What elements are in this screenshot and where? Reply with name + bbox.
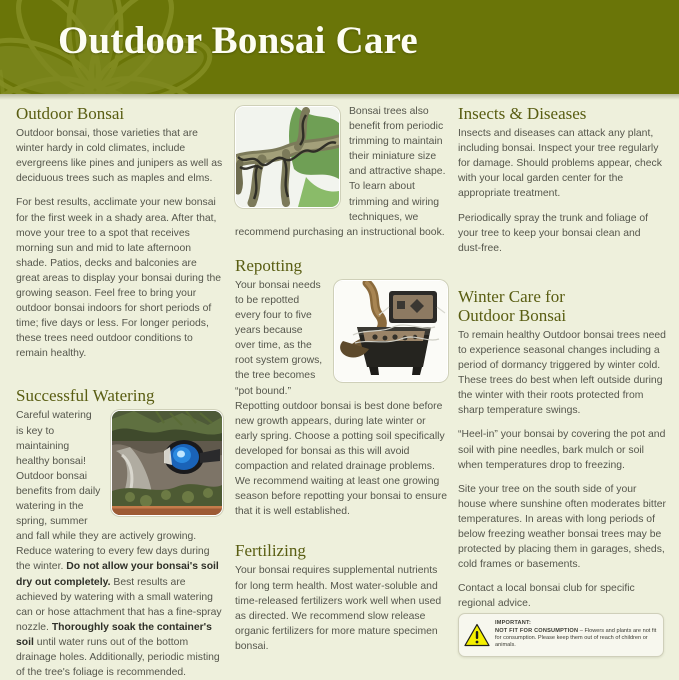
insects-paragraph-2: Periodically spray the trunk and foliage… [458, 211, 666, 256]
watering-photo-art [112, 411, 222, 515]
poster-page: Outdoor Bonsai Care Outdoor Bonsai Outdo… [0, 0, 679, 679]
column-middle: Bonsai trees also benefit from periodic … [235, 104, 448, 654]
column-right: Insects & Diseases Insects and diseases … [458, 104, 666, 611]
repotting-block: Your bonsai needs to be repotted every f… [235, 278, 448, 520]
watering-photo [111, 410, 223, 516]
wired-branch-photo [235, 106, 340, 208]
page-title: Outdoor Bonsai Care [58, 18, 418, 63]
warning-triangle-icon [464, 623, 490, 647]
spacer [235, 519, 448, 541]
winter-paragraph-3: Site your tree on the south side of your… [458, 482, 666, 573]
content-columns: Outdoor Bonsai Outdoor bonsai, those var… [0, 94, 679, 679]
trimming-block: Bonsai trees also benefit from periodic … [235, 104, 448, 240]
heading-insects-diseases: Insects & Diseases [458, 104, 666, 123]
winter-care-heading-line-2: Outdoor Bonsai [458, 306, 566, 325]
warning-line-2: NOT FIT FOR CONSUMPTION [495, 628, 578, 634]
heading-winter-care: Winter Care for Outdoor Bonsai [458, 287, 666, 325]
heading-outdoor-bonsai: Outdoor Bonsai [16, 104, 223, 123]
repotting-photo-art [335, 281, 447, 381]
heading-successful-watering: Successful Watering [16, 386, 223, 405]
column-left: Outdoor Bonsai Outdoor bonsai, those var… [16, 104, 223, 680]
important-warning-box: IMPORTANT: NOT FIT FOR CONSUMPTION – Flo… [458, 613, 664, 657]
page-header: Outdoor Bonsai Care [0, 0, 679, 94]
watering-block: Careful watering is key to maintaining h… [16, 408, 223, 680]
warning-line-1: IMPORTANT: [495, 620, 657, 627]
winter-care-heading-line-1: Winter Care for [458, 287, 565, 306]
winter-paragraph-2: “Heel-in” your bonsai by covering the po… [458, 427, 666, 472]
winter-paragraph-1: To remain healthy Outdoor bonsai trees n… [458, 328, 666, 419]
heading-repotting: Repotting [235, 256, 448, 275]
spacer [235, 240, 448, 256]
warning-text: IMPORTANT: NOT FIT FOR CONSUMPTION – Flo… [495, 620, 657, 650]
spacer [458, 265, 666, 287]
outdoor-bonsai-paragraph-2: For best results, acclimate your new bon… [16, 195, 223, 361]
repotting-photo [334, 280, 448, 382]
insects-paragraph-1: Insects and diseases can attack any plan… [458, 126, 666, 201]
heading-fertilizing: Fertilizing [235, 541, 448, 560]
outdoor-bonsai-paragraph-1: Outdoor bonsai, those varieties that are… [16, 126, 223, 186]
wired-branch-photo-art [236, 107, 339, 207]
winter-paragraph-4: Contact a local bonsai club for specific… [458, 581, 666, 611]
fertilizing-paragraph: Your bonsai requires supplemental nutrie… [235, 563, 448, 654]
spacer [16, 370, 223, 386]
